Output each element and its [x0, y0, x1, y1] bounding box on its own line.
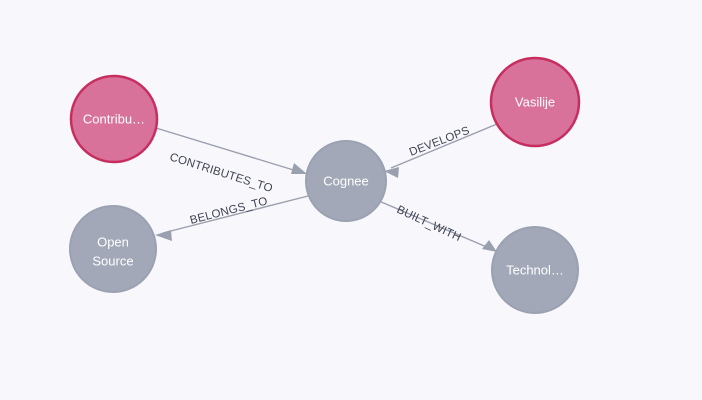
node-label-open-source-line2: Source	[92, 253, 133, 268]
node-label-cognee: Cognee	[323, 173, 369, 188]
edge-label-develops: DEVELOPS	[408, 125, 472, 159]
arrowhead-belongs-to	[155, 230, 172, 241]
nodes-layer: Contribu… Vasilije Cognee Open Source	[70, 58, 579, 313]
edge-label-contributes-to: CONTRIBUTES_TO	[168, 151, 274, 195]
graph-visualization[interactable]: CONTRIBUTES_TO DEVELOPS BELONGS_TO BUILT…	[0, 0, 702, 400]
node-vasilije[interactable]: Vasilije	[491, 58, 579, 146]
node-open-source[interactable]: Open Source	[70, 206, 156, 292]
node-label-technology: Technol…	[506, 262, 564, 277]
edge-belongs-to[interactable]: BELONGS_TO	[155, 195, 308, 241]
node-technology[interactable]: Technol…	[492, 227, 578, 313]
edge-label-built-with: BUILT_WITH	[395, 204, 463, 244]
node-cognee[interactable]: Cognee	[306, 141, 386, 221]
node-label-open-source-line1: Open	[97, 234, 129, 249]
graph-canvas[interactable]: CONTRIBUTES_TO DEVELOPS BELONGS_TO BUILT…	[0, 0, 702, 400]
node-label-vasilije: Vasilije	[515, 94, 555, 109]
node-label-contributor: Contribu…	[83, 111, 145, 126]
edge-develops[interactable]: DEVELOPS	[384, 124, 497, 178]
edge-label-belongs-to: BELONGS_TO	[189, 195, 269, 227]
edge-contributes-to[interactable]: CONTRIBUTES_TO	[156, 128, 307, 195]
edge-built-with[interactable]: BUILT_WITH	[379, 201, 497, 252]
arrowhead-contributes-to	[291, 163, 307, 174]
node-contributor[interactable]: Contribu…	[71, 76, 157, 162]
